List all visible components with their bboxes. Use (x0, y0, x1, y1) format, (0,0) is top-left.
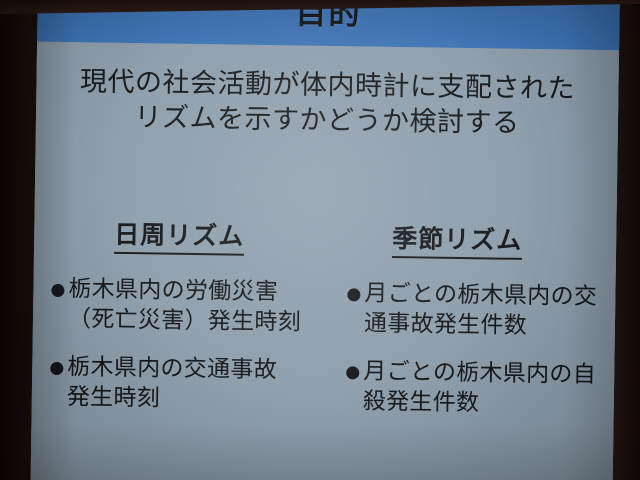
bullet-line: 栃木県内の交通事故 (67, 353, 277, 386)
list-item: 栃木県内の交通事故 発生時刻 (50, 353, 343, 417)
slide-body: 現代の社会活動が体内時計に支配された リズムを示すかどうか検討する 日周リズム … (30, 42, 619, 480)
section-heading-daily: 日周リズム (114, 215, 245, 256)
column-daily-rhythm: 日周リズム 栃木県内の労働災害 （死亡災害）発生時刻 栃木県内の交通事故 発生時… (31, 214, 344, 435)
lead-paragraph: 現代の社会活動が体内時計に支配された リズムを示すかどうか検討する (42, 64, 613, 143)
bullet-line: 発生時刻 (67, 383, 277, 416)
list-item: 栃木県内の労働災害 （死亡災害）発生時刻 (51, 275, 344, 339)
bullet-dot-icon (50, 362, 63, 375)
bullet-line: （死亡災害）発生時刻 (68, 305, 301, 338)
list-item: 月ごとの栃木県内の自 殺発生件数 (346, 357, 615, 421)
list-item: 月ごとの栃木県内の交 通事故発生件数 (347, 279, 616, 343)
bullet-dot-icon (51, 284, 64, 297)
bullet-line: 栃木県内の労働災害 (68, 275, 301, 308)
bullet-line: 通事故発生件数 (364, 309, 597, 342)
bullet-text: 栃木県内の交通事故 発生時刻 (67, 353, 278, 416)
bullet-line: 月ごとの栃木県内の自 (363, 357, 596, 390)
content-columns: 日周リズム 栃木県内の労働災害 （死亡災害）発生時刻 栃木県内の交通事故 発生時… (31, 214, 616, 439)
bullet-dot-icon (346, 366, 359, 379)
bullet-text: 月ごとの栃木県内の自 殺発生件数 (363, 357, 597, 420)
bullet-line: 殺発生件数 (363, 387, 596, 420)
bullet-dot-icon (347, 288, 360, 301)
photo-frame: 目的 現代の社会活動が体内時計に支配された リズムを示すかどうか検討する 日周リ… (0, 0, 640, 480)
bullet-line: 月ごとの栃木県内の交 (364, 280, 597, 313)
bullet-text: 月ごとの栃木県内の交 通事故発生件数 (364, 280, 598, 343)
projected-slide: 目的 現代の社会活動が体内時計に支配された リズムを示すかどうか検討する 日周リ… (30, 0, 620, 480)
column-seasonal-rhythm: 季節リズム 月ごとの栃木県内の交 通事故発生件数 月ごとの栃木県内の自 殺発生件… (341, 218, 616, 439)
bullet-text: 栃木県内の労働災害 （死亡災害）発生時刻 (68, 275, 302, 338)
section-heading-seasonal: 季節リズム (392, 219, 523, 260)
